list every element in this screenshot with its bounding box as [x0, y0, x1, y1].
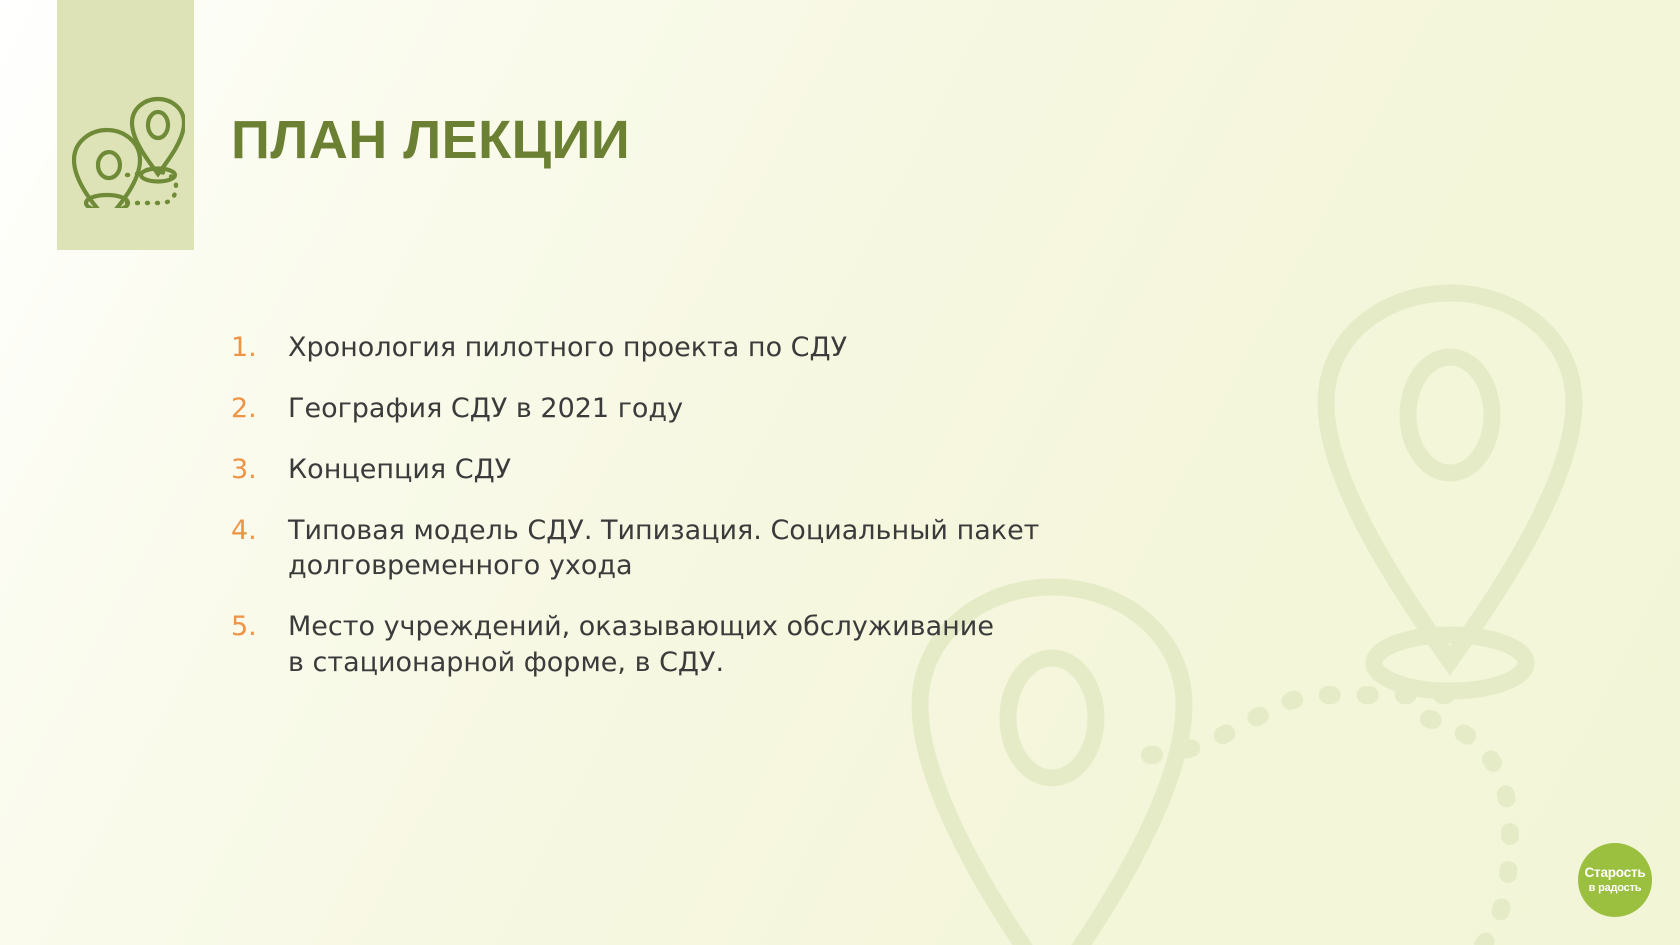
list-item: 5. Место учреждений, оказывающих обслужи…	[231, 609, 1051, 679]
list-item-number: 1.	[231, 330, 288, 365]
brand-logo-line1: Старость	[1584, 866, 1645, 880]
accent-panel	[57, 0, 194, 250]
list-item-number: 2.	[231, 391, 288, 426]
slide: ПЛАН ЛЕКЦИИ 1. Хронология пилотного прое…	[0, 0, 1680, 945]
list-item-number: 3.	[231, 452, 288, 487]
list-item-label: Концепция СДУ	[288, 452, 1051, 487]
list-item: 2. География СДУ в 2021 году	[231, 391, 1051, 426]
map-pin-route-icon	[69, 90, 185, 208]
list-item-label: Хронология пилотного проекта по СДУ	[288, 330, 1051, 365]
list-item-label: География СДУ в 2021 году	[288, 391, 1051, 426]
list-item-label: Типовая модель СДУ. Типизация. Социальны…	[288, 513, 1051, 583]
list-item: 3. Концепция СДУ	[231, 452, 1051, 487]
list-item-number: 5.	[231, 609, 288, 644]
list-item-number: 4.	[231, 513, 288, 548]
list-item-label: Место учреждений, оказывающих обслуживан…	[288, 609, 1051, 679]
brand-logo-line2: в радость	[1589, 883, 1642, 894]
list-item: 1. Хронология пилотного проекта по СДУ	[231, 330, 1051, 365]
agenda-list: 1. Хронология пилотного проекта по СДУ 2…	[231, 330, 1051, 680]
brand-logo: Старость в радость	[1578, 843, 1652, 917]
page-title: ПЛАН ЛЕКЦИИ	[231, 109, 630, 171]
list-item: 4. Типовая модель СДУ. Типизация. Социал…	[231, 513, 1051, 583]
